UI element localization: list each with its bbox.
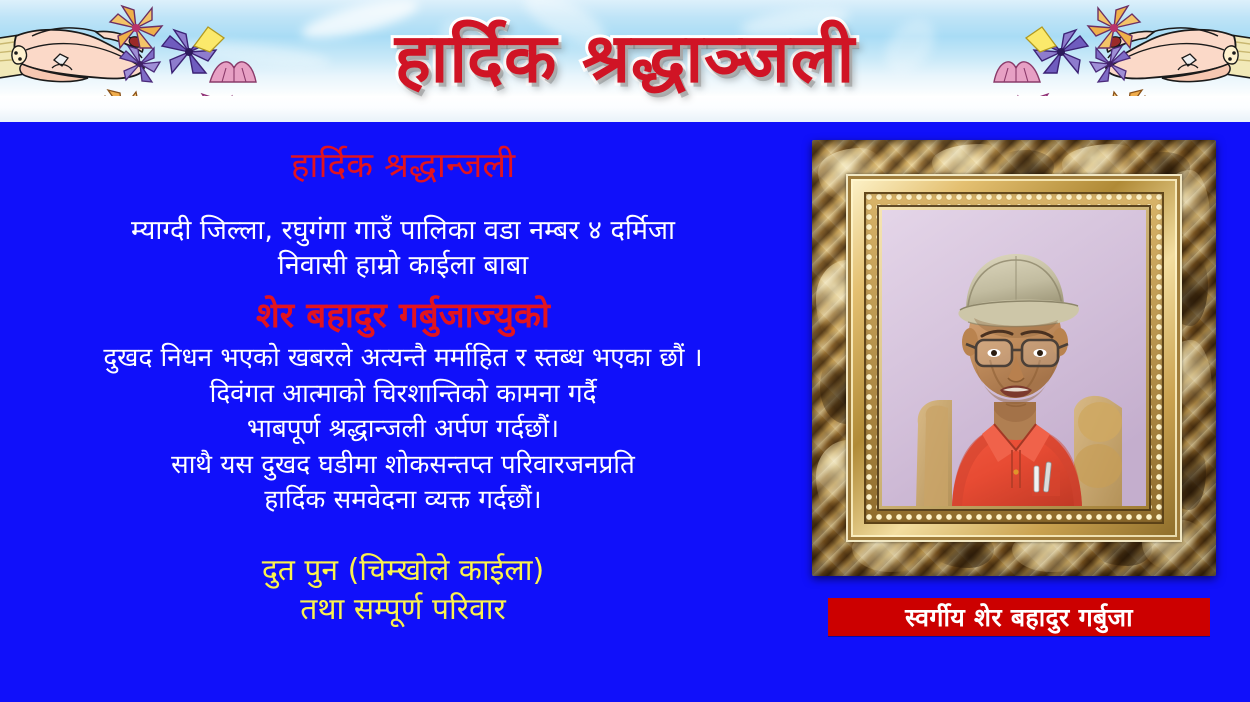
condolence-text-column: हार्दिक श्रद्धान्जली म्याग्दी जिल्ला, रघ… [8,146,798,629]
memorial-poster: हार्दिक श्रद्धाञ्जली हार्दिक श्रद्धान्जल… [0,0,1250,702]
condolence-line: साथै यस दुखद घडीमा शोकसन्तप्त परिवारजनप्… [8,448,798,483]
signature-block: दुत पुन (चिम्खोले काईला) तथा सम्पूर्ण पर… [8,552,798,629]
condolence-line: हार्दिक समवेदना व्यक्त गर्दछौं। [8,483,798,518]
header-banner: हार्दिक श्रद्धाञ्जली [0,0,1250,122]
portrait-photo [882,210,1146,506]
status-badge: स्वर्गीय शेर बहादुर गर्बुजा [828,598,1210,636]
address-line: निवासी हाम्रो काईला बाबा [8,248,798,283]
signature-line: तथा सम्पूर्ण परिवार [8,591,798,629]
signature-line: दुत पुन (चिम्खोले काईला) [8,552,798,590]
condolence-line: दुखद निधन भएको खबरले अत्यन्तै मर्माहित र… [8,341,798,376]
page-title: हार्दिक श्रद्धान्जली [8,146,798,187]
deceased-nameplate-text: स्वर्गीय शेर बहादुर गर्बुजा [905,605,1133,630]
condolence-line: दिवंगत आत्माको चिरशान्तिको कामना गर्दै [8,377,798,412]
poster-body: हार्दिक श्रद्धान्जली म्याग्दी जिल्ला, रघ… [0,122,1250,702]
portrait-frame [812,140,1216,576]
address-line: म्याग्दी जिल्ला, रघुगंगा गाउँ पालिका वडा… [8,213,798,248]
condolence-line: भाबपूर्ण श्रद्धान्जली अर्पण गर्दछौं। [8,412,798,447]
deceased-name: शेर बहादुर गर्बुजाज्युको [8,295,798,337]
banner-title: हार्दिक श्रद्धाञ्जली [0,26,1250,94]
banner-bottom-strip [0,96,1250,122]
